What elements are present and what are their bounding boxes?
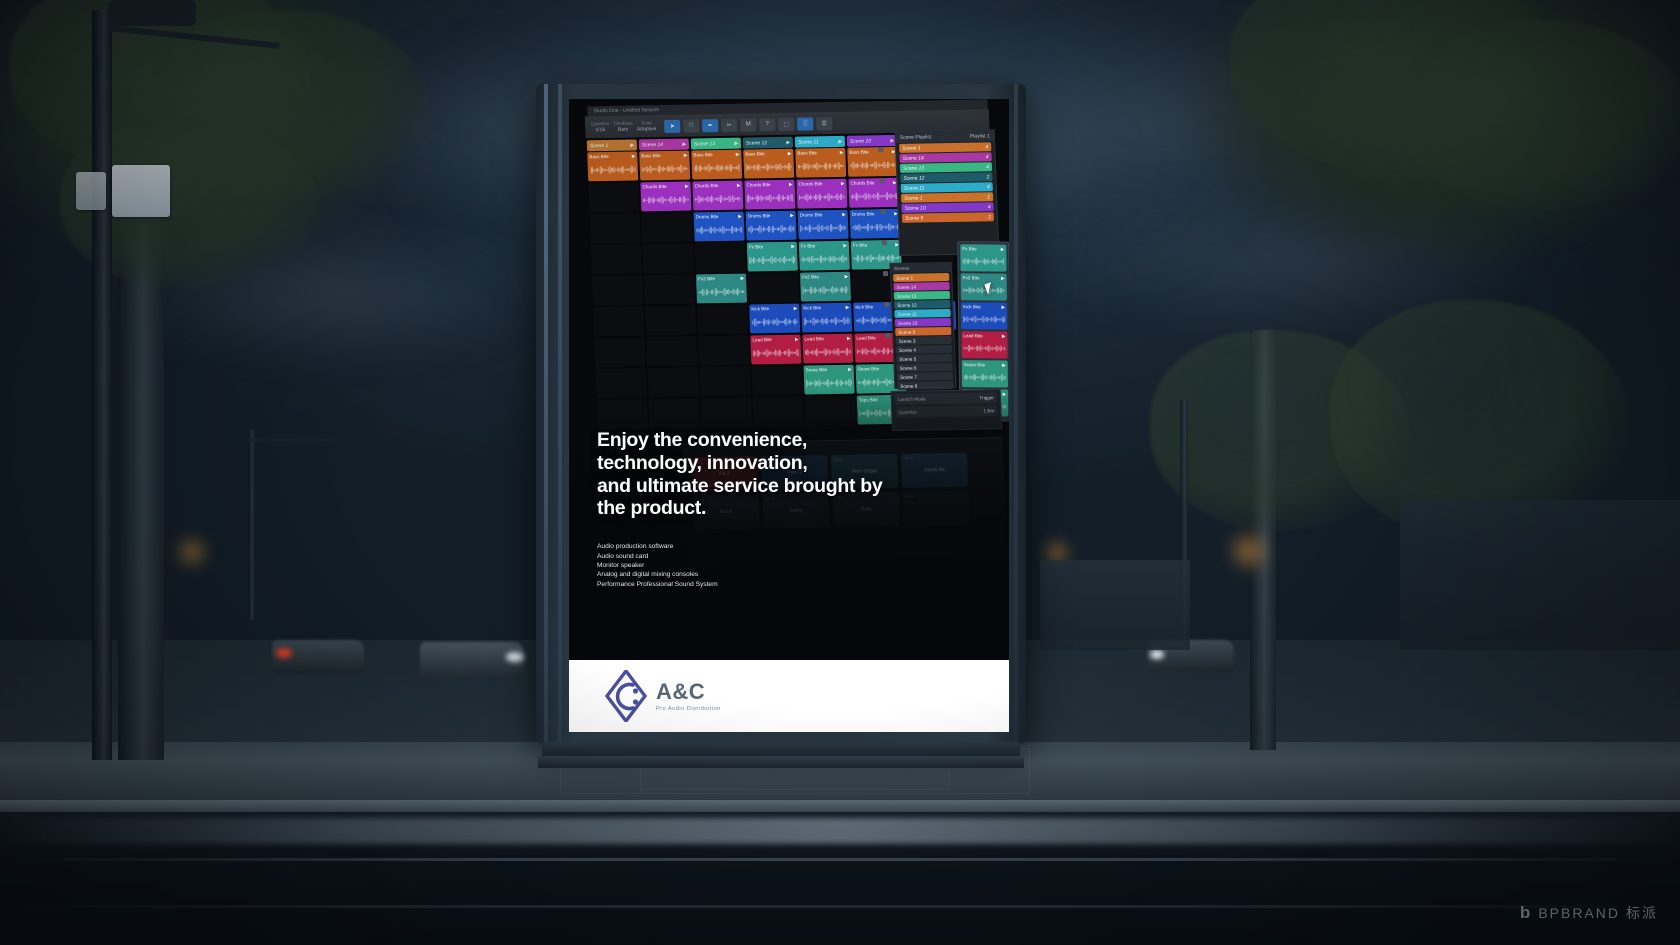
help-tool-icon[interactable]: ?	[759, 118, 776, 131]
playlist-item-count: 1	[987, 194, 990, 200]
scene-header[interactable]: Scene 14▶	[639, 139, 689, 151]
clip-waveform	[801, 250, 848, 269]
clip-play-icon[interactable]: ▶	[789, 181, 793, 187]
street-sign-r	[112, 165, 170, 217]
street-sign-small	[76, 172, 106, 210]
empty-clip-slot[interactable]	[695, 243, 746, 273]
clip-label: Kick Bite ▶	[751, 305, 797, 313]
street-lamp-pole-far	[248, 430, 255, 620]
clip-waveform	[964, 369, 1006, 385]
billboard-screen[interactable]: Studio One - Untitled Session Quantize 1…	[569, 99, 1009, 732]
audio-clip[interactable]: Fx Bite ▶	[960, 244, 1006, 271]
billboard-base	[538, 756, 1024, 768]
audio-clip[interactable]: Chords Bite ▶	[692, 181, 743, 211]
menu-tool-icon[interactable]: ☰	[816, 117, 833, 130]
play-triangle-icon[interactable]: ▶	[734, 140, 738, 146]
empty-clip-slot[interactable]	[643, 243, 694, 273]
snap-value: Adaptive	[637, 126, 657, 132]
clip-play-icon[interactable]: ▶	[738, 213, 742, 219]
playlist-item[interactable]: Scene 11 4	[901, 182, 993, 193]
scene-list-item[interactable]: Scene 9	[895, 327, 951, 336]
product-list-item: Performance Professional Sound System	[597, 580, 897, 589]
clip-waveform	[698, 283, 745, 302]
clip-label: Drums Bite ▶	[800, 211, 846, 219]
ad-copy-block: Enjoy the convenience, technology, innov…	[597, 429, 897, 589]
audio-clip[interactable]: Kick Bite ▶	[801, 303, 852, 333]
empty-clip-slot[interactable]	[698, 336, 749, 366]
audio-clip[interactable]: Snare Bite ▶	[962, 360, 1008, 387]
clip-play-icon[interactable]: ▶	[740, 275, 744, 281]
playlist-item-label: Scene 13	[903, 165, 924, 171]
audio-clip[interactable]: Bass Bite ▶	[587, 151, 638, 181]
clip-label: Fx Bite ▶	[801, 242, 847, 250]
empty-clip-slot[interactable]	[748, 273, 799, 303]
scene-list-panel[interactable]: Scenes Scene 1Scene 14Scene 13Scene 12Sc…	[890, 262, 957, 389]
night-street-scene: Studio One - Untitled Session Quantize 1…	[0, 0, 1680, 945]
play-triangle-icon[interactable]: ▶	[838, 138, 842, 144]
play-triangle-icon[interactable]: ▶	[786, 139, 790, 145]
product-list-item: Monitor speaker	[597, 561, 897, 570]
clip-play-icon[interactable]: ▶	[847, 335, 851, 341]
slot-marker[interactable]	[882, 271, 887, 276]
audio-clip[interactable]: Chords Bite ▶	[796, 179, 847, 209]
clip-waveform	[963, 311, 1005, 327]
watermark: b BPBRAND 标派	[1520, 903, 1658, 923]
quantize-value: 1/16	[595, 127, 605, 133]
logo-band: A&C Pro Audio Distribution	[569, 660, 1009, 732]
scene-list-item[interactable]: Scene 14	[893, 282, 949, 291]
empty-clip-slot[interactable]	[592, 275, 643, 305]
scene-playlist-panel[interactable]: Scene Playlist Playlist 1 Scene 1 4Scene…	[895, 129, 1000, 256]
audio-clip[interactable]: Fx Bite ▶	[799, 241, 850, 271]
empty-clip-slot[interactable]	[588, 182, 639, 212]
clip-play-icon[interactable]: ▶	[846, 304, 850, 310]
leaf-cluster	[1400, 20, 1680, 210]
playlist-item-count: 4	[986, 154, 989, 160]
play-triangle-icon[interactable]: ▶	[682, 141, 686, 147]
playlist-item-count: 4	[986, 164, 989, 170]
clip-label: Snare Bite ▶	[806, 366, 852, 374]
playlist-item[interactable]: Scene 9 2	[902, 212, 994, 223]
mute-tool-icon[interactable]: M	[740, 118, 757, 131]
clip-label: Chords Bite ▶	[642, 183, 688, 191]
clip-play-icon[interactable]: ▶	[841, 180, 845, 186]
playlist-item-label: Scene 14	[902, 155, 923, 161]
audio-clip[interactable]: Drums Bite ▶	[694, 212, 745, 242]
slot-marker[interactable]	[878, 147, 883, 152]
scene-list-item[interactable]: Scene 6	[897, 363, 953, 372]
clip-waveform	[642, 160, 689, 179]
toolbar-button-group[interactable]: ➤□✒✂M?⬚░☰	[664, 117, 833, 133]
audio-clip[interactable]: Bass Bite ▶	[743, 149, 794, 179]
scene-list-item[interactable]: Scene 13	[894, 291, 950, 300]
bus-stop-billboard[interactable]: Studio One - Untitled Session Quantize 1…	[536, 84, 1026, 756]
car-headlight	[506, 652, 524, 662]
headline-line: the product.	[597, 497, 897, 520]
playlist-item-count: 4	[987, 184, 990, 190]
quantize-field[interactable]: Quantize 1/16	[591, 120, 610, 134]
scene-header[interactable]: Scene 13▶	[691, 138, 741, 150]
clip-label: Bass Bite ▶	[797, 149, 843, 157]
clip-label: Chords Bite ▶	[798, 180, 844, 188]
clip-label: Fx2 Bite ▶	[698, 275, 744, 283]
clip-waveform	[748, 220, 795, 239]
street-light-glow	[1226, 528, 1272, 574]
empty-clip-slot[interactable]	[590, 213, 641, 243]
clip-play-icon[interactable]: ▶	[791, 243, 795, 249]
clip-play-icon[interactable]: ▶	[794, 305, 798, 311]
empty-clip-slot[interactable]	[645, 305, 696, 335]
clip-play-icon[interactable]: ▶	[685, 183, 689, 189]
clip-play-icon[interactable]: ▶	[1002, 362, 1006, 368]
clip-label: Kick Bite ▶	[963, 303, 1005, 310]
slot-marker[interactable]	[885, 333, 890, 338]
clip-waveform	[798, 157, 845, 176]
timebase-value: Bars	[618, 127, 629, 133]
ac-diamond-logo-icon	[605, 670, 647, 722]
watermark-cn: 标派	[1626, 903, 1658, 923]
scene-list-item[interactable]: Scene 7	[897, 372, 953, 381]
clip-label: Lead Bite ▶	[804, 335, 850, 343]
clip-waveform	[694, 159, 741, 178]
scene-header-label: Scene 11	[798, 139, 819, 145]
clip-play-icon[interactable]: ▶	[632, 153, 636, 159]
clip-waveform	[751, 313, 798, 332]
slot-marker[interactable]	[880, 209, 885, 214]
split-tool-icon[interactable]: ✂	[721, 118, 738, 131]
clip-play-icon[interactable]: ▶	[788, 150, 792, 156]
audio-clip[interactable]: Drums Bite ▶	[746, 211, 797, 241]
playlist-item[interactable]: Scene 13 4	[900, 162, 992, 173]
clip-waveform	[589, 160, 636, 179]
logo-tagline: Pro Audio Distribution	[656, 706, 721, 712]
empty-clip-slot[interactable]	[644, 274, 695, 304]
clip-waveform	[803, 312, 850, 331]
audio-clip[interactable]: Drums Bite ▶	[798, 210, 849, 240]
range-tool-icon[interactable]: □	[683, 119, 700, 132]
clip-waveform	[800, 219, 847, 238]
snap-field[interactable]: Snap Adaptive	[637, 119, 657, 133]
clip-play-icon[interactable]: ▶	[795, 336, 799, 342]
clip-label: Bass Bite ▶	[693, 151, 739, 159]
clip-label: Fx2 Bite ▶	[963, 274, 1005, 281]
scene-list-title: Scenes	[891, 263, 951, 273]
clip-waveform	[696, 221, 743, 240]
clip-play-icon[interactable]: ▶	[736, 151, 740, 157]
headline-line: Enjoy the convenience,	[597, 429, 897, 452]
slot-marker[interactable]	[881, 240, 886, 245]
scene-header-label: Scene 12	[746, 140, 767, 146]
play-triangle-icon[interactable]: ▶	[630, 142, 634, 148]
timebase-field[interactable]: Timebase Bars	[613, 120, 633, 134]
audio-clip[interactable]: Chords Bite ▶	[640, 182, 691, 212]
road-line	[0, 858, 1680, 861]
playlist-item-count: 4	[988, 204, 991, 210]
street-lamp-arm-far	[248, 438, 338, 442]
empty-clip-slot[interactable]	[646, 336, 697, 366]
scene-header-label: Scene 14	[642, 142, 663, 148]
scene-header-label: Scene 13	[694, 141, 715, 147]
audio-clip[interactable]: Bass Bite ▶	[795, 148, 846, 178]
clip-play-icon[interactable]: ▶	[844, 273, 848, 279]
empty-clip-slot[interactable]	[642, 213, 693, 243]
playlist-item[interactable]: Scene 14 4	[899, 152, 991, 163]
clip-label: Kick Bite ▶	[803, 304, 849, 312]
audio-clip[interactable]: Chords Bite ▶	[744, 180, 795, 210]
empty-clip-slot[interactable]	[593, 306, 644, 336]
clip-label: Lead Bite ▶	[752, 336, 798, 344]
clip-play-icon[interactable]: ▶	[848, 366, 852, 372]
scene-header-label: Scene 1	[590, 142, 609, 148]
clip-play-icon[interactable]: ▶	[1001, 246, 1005, 252]
audio-clip[interactable]: Fx2 Bite ▶	[961, 273, 1007, 300]
scene-header[interactable]: Scene 12▶	[743, 137, 793, 149]
audio-clip[interactable]: Lead Bite ▶	[750, 335, 801, 365]
headline-line: technology, innovation,	[597, 452, 897, 475]
building-silhouette	[1040, 560, 1190, 650]
scene-playlist-title: Scene Playlist	[900, 134, 932, 141]
clip-waveform	[753, 344, 800, 363]
clip-waveform	[747, 189, 794, 208]
street-light-glow	[174, 534, 210, 570]
audio-clip[interactable]: Bass Bite ▶	[639, 151, 690, 181]
product-list: Audio production software Audio sound ca…	[597, 542, 897, 589]
empty-clip-slot[interactable]	[591, 244, 642, 274]
clip-label: Drums Bite ▶	[696, 213, 742, 221]
save-tool-icon[interactable]: ⬚	[778, 117, 795, 130]
scene-playlist-items[interactable]: Scene 1 4Scene 14 4Scene 13 4Scene 12 2S…	[896, 142, 997, 223]
scene-header[interactable]: Scene 11▶	[795, 136, 845, 148]
audio-clip[interactable]: Fx2 Bite ▶	[800, 272, 851, 302]
clip-label: Bass Bite ▶	[589, 152, 635, 160]
billboard-edge-highlight	[544, 84, 548, 744]
logo-text: A&C Pro Audio Distribution	[656, 681, 721, 712]
building-silhouette	[1400, 500, 1680, 650]
scene-header[interactable]: Scene 1▶	[587, 139, 637, 151]
clip-waveform	[805, 343, 852, 362]
clip-waveform	[802, 281, 849, 300]
playlist-item-label: Scene 10	[904, 205, 925, 211]
scene-list-item[interactable]: Scene 3	[895, 336, 951, 345]
clip-waveform	[695, 190, 742, 209]
scene-list-item[interactable]: Scene 10	[895, 318, 951, 327]
playlist-item-count: 2	[986, 174, 989, 180]
paint-tool-icon[interactable]: ✒	[702, 119, 719, 132]
playlist-item[interactable]: Scene 10 4	[901, 202, 993, 213]
scene-list-item[interactable]: Scene 5	[896, 354, 952, 363]
product-list-item: Analog and digital mixing consoles	[597, 570, 897, 579]
audio-clip[interactable]: Bass Bite ▶	[691, 150, 742, 180]
clip-play-icon[interactable]: ▶	[1001, 304, 1005, 310]
empty-clip-slot[interactable]	[697, 305, 748, 335]
clip-label: Bass Bite ▶	[641, 152, 687, 160]
audio-clip[interactable]: Kick Bite ▶	[749, 304, 800, 334]
clip-waveform	[963, 340, 1005, 356]
playlist-item-label: Scene 11	[904, 185, 925, 191]
headline: Enjoy the convenience, technology, innov…	[597, 429, 897, 520]
clip-label: Snare Bite ▶	[964, 361, 1006, 368]
clip-play-icon[interactable]: ▶	[1002, 333, 1006, 339]
slot-marker[interactable]	[884, 302, 889, 307]
playlist-item[interactable]: Scene 1 4	[899, 142, 991, 153]
clip-play-icon[interactable]: ▶	[843, 242, 847, 248]
playlist-item-count: 2	[988, 214, 991, 220]
audio-clip[interactable]: Fx Bite ▶	[747, 242, 798, 272]
scene-list-items[interactable]: Scene 1Scene 14Scene 13Scene 12Scene 11S…	[891, 273, 955, 390]
clip-play-icon[interactable]: ▶	[790, 212, 794, 218]
logo-name: A&C	[656, 681, 721, 703]
watermark-b: b	[1520, 903, 1532, 923]
car-taillight	[276, 648, 292, 658]
car-headlight	[1150, 650, 1164, 659]
clip-play-icon[interactable]: ▶	[684, 152, 688, 158]
scene-header-label: Scene 10	[850, 138, 871, 144]
watermark-brand: BPBRAND	[1538, 905, 1620, 921]
clip-label: Drums Bite ▶	[748, 212, 794, 220]
playlist-name: Playlist 1	[970, 133, 990, 139]
product-list-item: Audio sound card	[597, 552, 897, 561]
playlist-item-label: Scene 12	[903, 175, 924, 181]
scene-list-item[interactable]: Scene 12	[894, 300, 950, 309]
grid-tool-icon[interactable]: ░	[797, 117, 814, 130]
audio-clip[interactable]: Fx2 Bite ▶	[696, 274, 747, 304]
street-lamp-head	[108, 0, 196, 26]
empty-clip-slot[interactable]	[594, 337, 645, 367]
billboard-edge-highlight	[1014, 84, 1018, 744]
clip-waveform	[799, 188, 846, 207]
clip-label: Fx Bite ▶	[749, 243, 795, 251]
clip-play-icon[interactable]: ▶	[1001, 275, 1005, 281]
clip-play-icon[interactable]: ▶	[737, 182, 741, 188]
clip-label: Fx2 Bite ▶	[802, 273, 848, 281]
clip-label: Fx Bite ▶	[962, 245, 1004, 252]
scene-list-item[interactable]: Scene 4	[896, 345, 952, 354]
road-reflection	[0, 818, 1680, 844]
clip-play-icon[interactable]: ▶	[840, 149, 844, 155]
slot-marker[interactable]	[879, 178, 884, 183]
clip-label: Chords Bite ▶	[746, 181, 792, 189]
clip-waveform	[746, 158, 793, 177]
playlist-item[interactable]: Scene 12 2	[900, 172, 992, 183]
play-triangle-icon[interactable]: ▶	[890, 137, 894, 143]
clip-label: Bass Bite ▶	[745, 150, 791, 158]
playlist-item[interactable]: Scene 1 1	[901, 192, 993, 203]
scene-list-item[interactable]: Scene 1	[893, 273, 949, 282]
playlist-item-label: Scene 9	[905, 215, 924, 221]
scene-playlist-header: Scene Playlist Playlist 1	[896, 130, 994, 143]
audio-clip[interactable]: Kick Bite ▶	[961, 302, 1007, 329]
arrow-tool-icon[interactable]: ➤	[664, 119, 681, 132]
road-line	[0, 905, 1680, 908]
clip-label: Chords Bite ▶	[694, 182, 740, 190]
playlist-item-count: 4	[985, 144, 988, 150]
clip-waveform	[643, 191, 690, 210]
playlist-item-label: Scene 1	[902, 145, 921, 151]
clip-waveform	[749, 251, 796, 270]
clip-play-icon[interactable]: ▶	[842, 211, 846, 217]
clip-waveform	[962, 253, 1004, 269]
audio-clip[interactable]: Lead Bite ▶	[961, 331, 1007, 358]
street-lamp-pole	[92, 10, 112, 760]
playlist-item-label: Scene 1	[904, 195, 923, 201]
headline-line: and ultimate service brought by	[597, 475, 897, 498]
audio-clip[interactable]: Lead Bite ▶	[802, 334, 853, 364]
clip-label: Lead Bite ▶	[963, 332, 1005, 339]
scene-list-item[interactable]: Scene 11	[894, 309, 950, 318]
product-list-item: Audio production software	[597, 542, 897, 551]
billboard-edge-highlight	[558, 84, 562, 744]
scene-header[interactable]: Scene 10▶	[847, 135, 897, 147]
